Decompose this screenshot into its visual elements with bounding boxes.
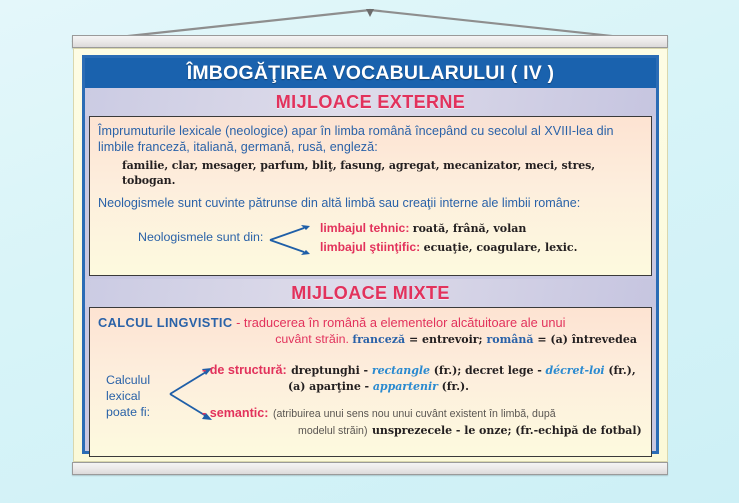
structura-word1: dreptunghi - [291,364,372,377]
externe-lead2-text: Neologismele sunt cuvinte pătrunse din a… [98,188,643,211]
top-rail [72,35,668,48]
mixte-branch-label-line2: lexical [106,388,150,404]
calc-term: CALCUL LINGVISTIC [98,315,233,330]
calc-definition-line2: cuvânt străin. franceză = entrevoir; rom… [98,331,643,348]
mixte-row-semantic-line1: - semantic: (atribuirea unui sens nou un… [202,405,643,422]
mixte-row-structura-line1: - de structură: dreptunghi - rectangle (… [202,362,643,379]
content-box-externe: Împrumuturile lexicale (neologice) apar … [89,116,652,276]
section-header-mixte: MIJLOACE MIXTE [85,279,656,307]
bottom-rail [72,462,668,475]
calc-example-ro: română [486,333,533,346]
calc-definition-cont: cuvânt străin. [275,332,349,346]
poster-frame: ÎMBOGĂŢIREA VOCABULARULUI ( IV ) MIJLOAC… [73,48,668,462]
structura-fr1: rectangle [372,364,430,377]
mixte-branch-label-line3: poate fi: [106,404,150,420]
calc-example-mid: = entrevoir; [405,333,486,346]
mixte-row-structura: - de structură: dreptunghi - rectangle (… [202,362,643,395]
branch-value-stiintific: ecuaţie, coagulare, lexic. [424,241,578,254]
content-box-mixte: CALCUL LINGVISTIC - traducerea în română… [89,307,652,457]
mixte-row-semantic-paren2: modelul străin) [298,425,367,437]
mixte-row-structura-body1: dreptunghi - rectangle (fr.); decret leg… [291,364,636,377]
calc-example-fr: franceză [352,333,405,346]
structura-word2: (fr.); decret lege - [430,364,546,377]
externe-lead-text: Împrumuturile lexicale (neologice) apar … [98,123,643,155]
externe-examples-text: familie, clar, mesager, parfum, bliţ, fa… [98,155,643,188]
section-header-mixte-label: MIJLOACE MIXTE [291,283,450,304]
branch-line-tehnic: limbajul tehnic: roată, frână, volan [320,219,577,238]
externe-branch-lines: limbajul tehnic: roată, frână, volan lim… [320,219,577,257]
mixte-row-semantic-example: unsprezecele - le onze; (fr.-echipă de f… [372,424,642,437]
structura-tail1: (fr.), [605,364,636,377]
structura-fr2: décret-loi [546,364,605,377]
branch-line-stiintific: limbajul ştiinţific: ecuaţie, coagulare,… [320,238,577,257]
poster-title-bar: ÎMBOGĂŢIREA VOCABULARULUI ( IV ) [85,58,656,88]
mixte-branch-label-line1: Calculul [106,372,150,388]
externe-branch-group: Neologismele sunt din: limbajul tehnic: … [98,219,643,259]
section-header-externe: MIJLOACE EXTERNE [85,88,656,116]
page-title: ÎMBOGĂŢIREA VOCABULARULUI ( IV ) [187,62,555,85]
branch-key-stiintific: limbajul ştiinţific: [320,240,420,254]
mixte-row-semantic: - semantic: (atribuirea unui sens nou un… [202,405,643,439]
calc-example-end: = (a) întrevedea [533,333,637,346]
externe-branch-label: Neologismele sunt din: [138,230,263,244]
structura-tail2: (fr.). [438,380,469,393]
mixte-row-structura-line2: (a) aparţine - appartenir (fr.). [202,379,643,395]
mixte-row-structura-head: - de structură: [202,363,287,377]
mixte-branch-group: Calculul lexical poate fi: - de structur… [98,362,643,448]
mixte-branch-label: Calculul lexical poate fi: [106,372,150,420]
calc-definition: - traducerea în română a elementelor alc… [233,315,566,330]
structura-fr3: appartenir [373,380,438,393]
branch-key-tehnic: limbajul tehnic: [320,221,409,235]
structura-word3: (a) aparţine - [288,380,373,393]
poster-inner-frame: ÎMBOGĂŢIREA VOCABULARULUI ( IV ) MIJLOAC… [82,55,659,454]
section-header-externe-label: MIJLOACE EXTERNE [276,92,465,113]
mixte-rows: - de structură: dreptunghi - rectangle (… [202,362,643,441]
calc-example: franceză = entrevoir; română = (a) între… [352,333,637,346]
branch-value-tehnic: roată, frână, volan [413,222,527,235]
calc-definition-line1: CALCUL LINGVISTIC - traducerea în română… [98,314,643,331]
mixte-row-semantic-line2: modelul străin) unsprezecele - le onze; … [202,422,643,439]
mixte-row-semantic-head: - semantic: [202,406,269,420]
mixte-row-semantic-paren1: (atribuirea unui sens nou unui cuvânt ex… [273,408,556,420]
branch-arrows-icon [268,223,312,257]
